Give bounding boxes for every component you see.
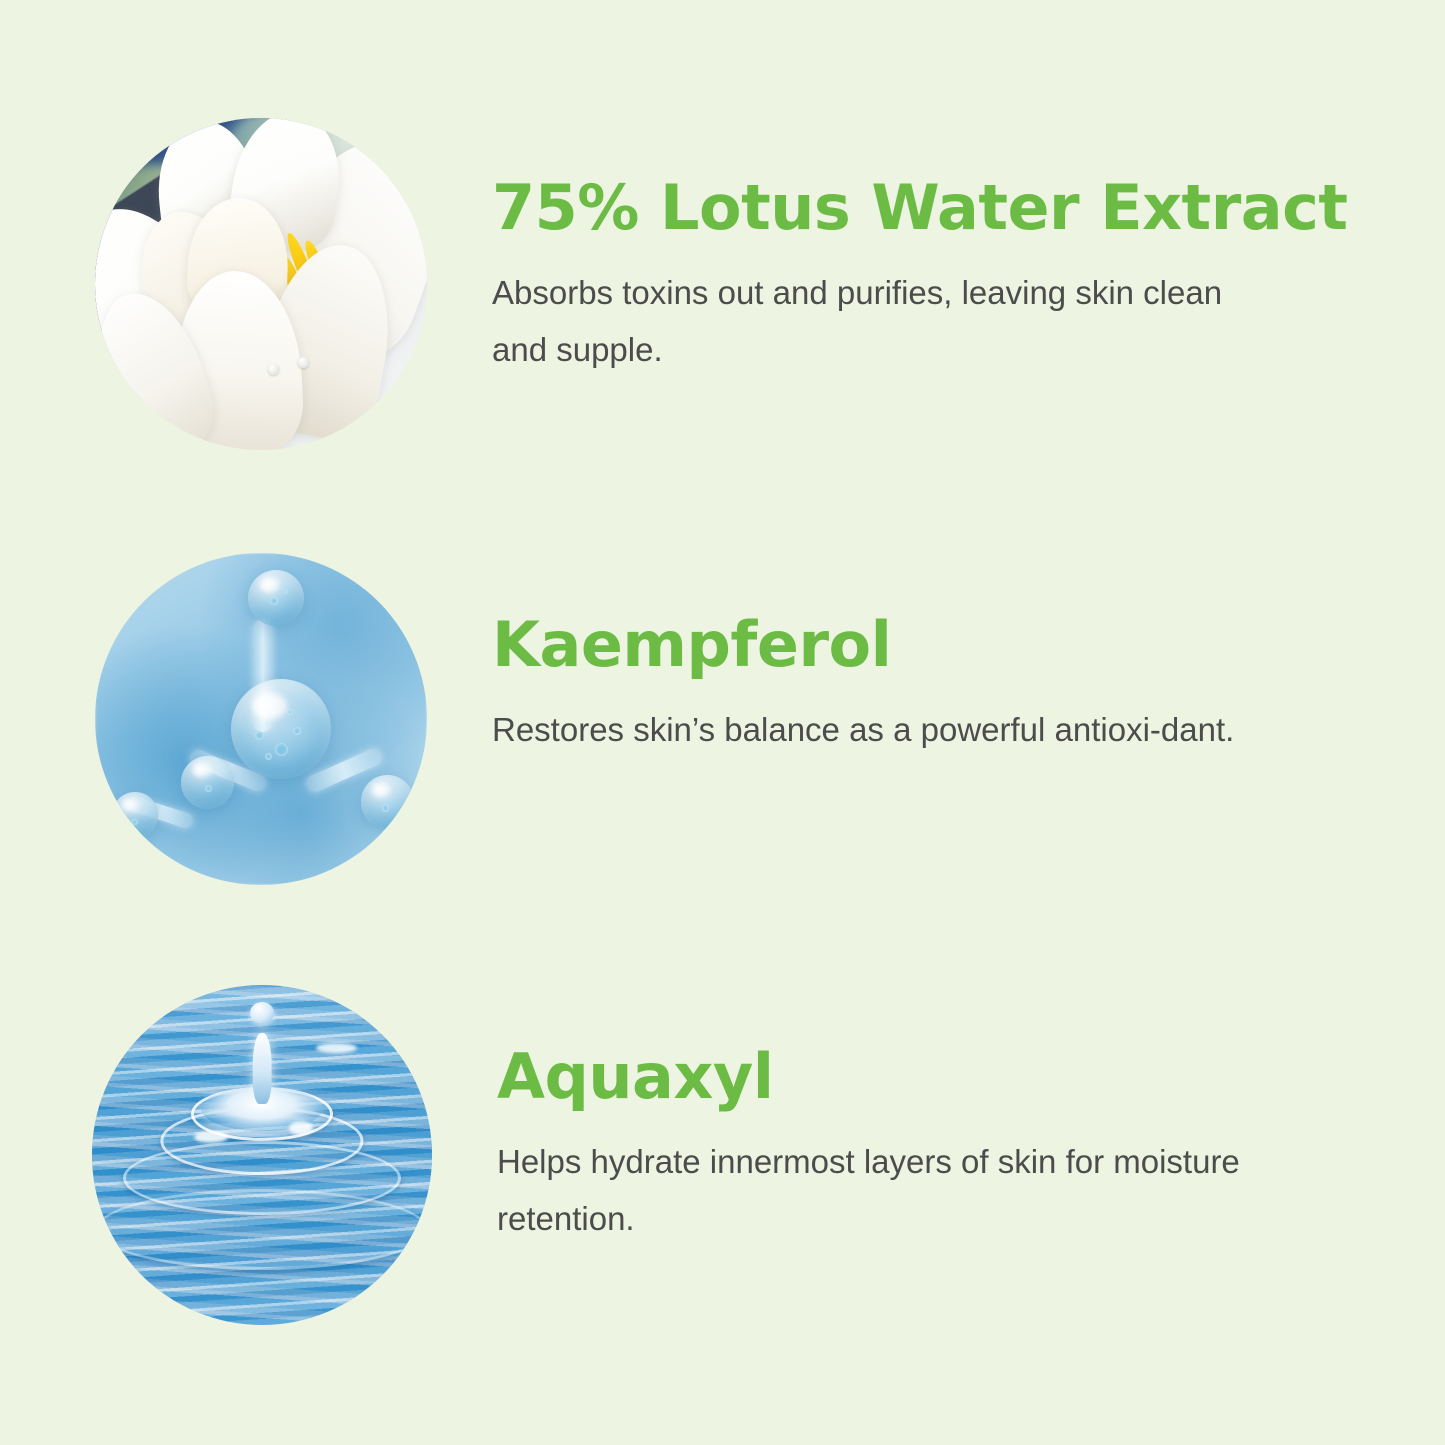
water-glint xyxy=(316,1043,357,1053)
lotus-text-column: 75% Lotus Water Extract Absorbs toxins o… xyxy=(492,118,1372,379)
feature-heading-aquaxyl: Aquaxyl xyxy=(497,1045,1377,1108)
feature-row-kaempferol: Kaempferol Restores skin’s balance as a … xyxy=(0,553,1445,885)
water-glint xyxy=(194,1131,228,1143)
bubble xyxy=(275,743,288,756)
feature-description-kaempferol: Restores skin’s balance as a powerful an… xyxy=(492,702,1282,759)
feature-heading-lotus: 75% Lotus Water Extract xyxy=(492,176,1372,239)
bubble xyxy=(205,785,212,792)
molecule-atom-lower-right xyxy=(361,775,414,828)
feature-description-aquaxyl: Helps hydrate innermost layers of skin f… xyxy=(497,1134,1257,1248)
bubble xyxy=(287,709,293,715)
bubble xyxy=(270,597,278,605)
water-column xyxy=(253,1033,272,1104)
water-glint xyxy=(289,1121,313,1135)
dew-drop xyxy=(298,357,309,368)
falling-droplet xyxy=(250,1002,274,1024)
bubble xyxy=(255,731,264,740)
dew-drop xyxy=(268,364,279,375)
molecule-atom-lower-left xyxy=(181,756,234,809)
feature-row-lotus: 75% Lotus Water Extract Absorbs toxins o… xyxy=(0,118,1445,450)
water-droplet-image xyxy=(92,985,432,1325)
lotus-flower-image xyxy=(95,118,427,450)
bubble xyxy=(283,589,289,595)
bubble xyxy=(131,819,138,826)
kaempferol-text-column: Kaempferol Restores skin’s balance as a … xyxy=(492,553,1372,759)
aquaxyl-text-column: Aquaxyl Helps hydrate innermost layers o… xyxy=(497,985,1377,1248)
ingredient-benefits-infographic: 75% Lotus Water Extract Absorbs toxins o… xyxy=(0,0,1445,1445)
feature-row-aquaxyl: Aquaxyl Helps hydrate innermost layers o… xyxy=(0,985,1445,1325)
ripple-outer xyxy=(96,1189,428,1270)
bubble xyxy=(382,804,389,811)
bubble xyxy=(265,753,272,760)
molecule-atom-top xyxy=(248,570,304,626)
molecule-image xyxy=(95,553,427,885)
feature-heading-kaempferol: Kaempferol xyxy=(492,613,1372,676)
molecule-atom-center xyxy=(231,679,331,779)
feature-description-lotus: Absorbs toxins out and purifies, leaving… xyxy=(492,265,1252,379)
bubble xyxy=(293,727,301,735)
molecule-atom-far-left xyxy=(112,792,158,838)
